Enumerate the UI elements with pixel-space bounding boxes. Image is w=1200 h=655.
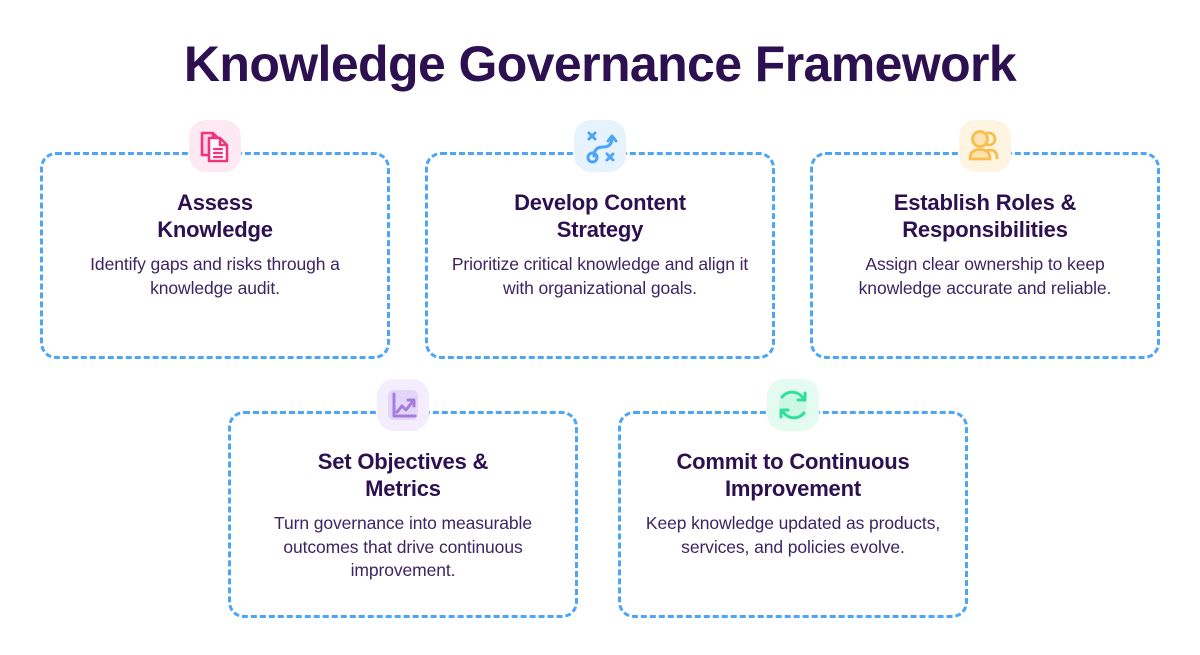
card-title: Assess Knowledge — [157, 189, 273, 243]
card-description: Turn governance into measurable outcomes… — [245, 512, 561, 583]
card-content: Set Objectives & Metrics Turn governance… — [231, 414, 575, 615]
card-content: Assess Knowledge Identify gaps and risks… — [43, 155, 387, 356]
framework-card-develop-content-strategy: Develop Content Strategy Prioritize crit… — [425, 152, 775, 359]
card-title-line2: Responsibilities — [902, 217, 1068, 242]
card-title-line1: Set Objectives & — [318, 449, 488, 474]
infographic-canvas: Knowledge Governance Framework Assess Kn… — [0, 0, 1200, 655]
card-description: Keep knowledge updated as products, serv… — [635, 512, 951, 559]
card-title: Develop Content Strategy — [514, 189, 686, 243]
framework-card-establish-roles-responsibilities: Establish Roles & Responsibilities Assig… — [810, 152, 1160, 359]
card-title: Establish Roles & Responsibilities — [894, 189, 1076, 243]
card-title-line1: Establish Roles & — [894, 190, 1076, 215]
card-content: Develop Content Strategy Prioritize crit… — [428, 155, 772, 356]
card-title-line2: Strategy — [557, 217, 643, 242]
card-title-line2: Metrics — [365, 476, 441, 501]
card-title-line2: Improvement — [725, 476, 861, 501]
card-content: Commit to Continuous Improvement Keep kn… — [621, 414, 965, 615]
card-title: Commit to Continuous Improvement — [676, 448, 909, 502]
card-title: Set Objectives & Metrics — [318, 448, 488, 502]
card-content: Establish Roles & Responsibilities Assig… — [813, 155, 1157, 356]
card-description: Assign clear ownership to keep knowledge… — [827, 253, 1143, 300]
framework-card-assess-knowledge: Assess Knowledge Identify gaps and risks… — [40, 152, 390, 359]
card-title-line1: Commit to Continuous — [676, 449, 909, 474]
framework-card-set-objectives-metrics: Set Objectives & Metrics Turn governance… — [228, 411, 578, 618]
card-title-line1: Develop Content — [514, 190, 686, 215]
card-title-line1: Assess — [177, 190, 253, 215]
card-description: Identify gaps and risks through a knowle… — [57, 253, 373, 300]
card-title-line2: Knowledge — [157, 217, 273, 242]
page-title: Knowledge Governance Framework — [0, 33, 1200, 95]
framework-card-commit-to-continuous-improvement: Commit to Continuous Improvement Keep kn… — [618, 411, 968, 618]
card-description: Prioritize critical knowledge and align … — [442, 253, 758, 300]
